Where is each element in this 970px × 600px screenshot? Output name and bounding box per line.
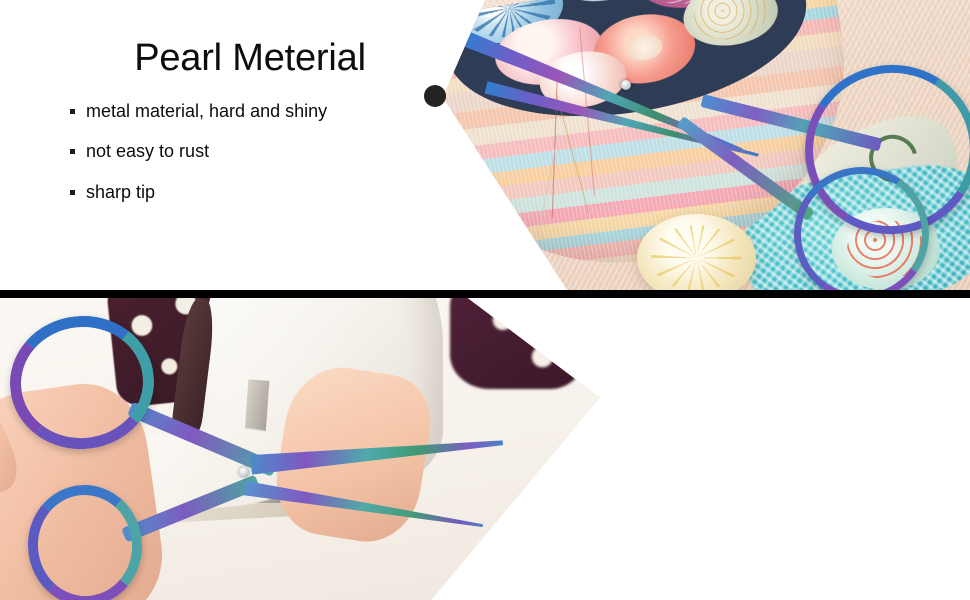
bullet-item: not easy to rust bbox=[60, 140, 430, 163]
bullet-list-pearl-material: metal material, hard and shiny not easy … bbox=[60, 100, 430, 204]
photo-pearl-material-content bbox=[432, 0, 970, 290]
scissor-pivot-screw bbox=[621, 80, 631, 90]
text-block-pearl-material: Pearl Meterial metal material, hard and … bbox=[60, 38, 430, 221]
bullet-label: not easy to rust bbox=[86, 140, 209, 163]
photo-pearl-material bbox=[432, 0, 970, 290]
bullet-item: sharp tip bbox=[60, 181, 430, 204]
headline-pearl-material: Pearl Meterial bbox=[60, 38, 430, 80]
section-pearl-material: Pearl Meterial metal material, hard and … bbox=[0, 0, 970, 290]
bullet-item: metal material, hard and shiny bbox=[60, 100, 430, 123]
square-bullet-icon bbox=[70, 149, 75, 154]
section-divider bbox=[0, 290, 970, 298]
bullet-label: metal material, hard and shiny bbox=[86, 100, 327, 123]
photo-delicate-handle bbox=[0, 298, 600, 600]
product-feature-banner: Pearl Meterial metal material, hard and … bbox=[0, 0, 970, 600]
rainbow-scissors-top bbox=[432, 0, 970, 290]
scissor-shank-lower bbox=[677, 116, 815, 221]
dot-marker-icon-top bbox=[424, 85, 446, 107]
square-bullet-icon bbox=[70, 190, 75, 195]
square-bullet-icon bbox=[70, 109, 75, 114]
floral-fabric-right bbox=[450, 298, 582, 389]
scissor-pivot-screw bbox=[239, 467, 249, 477]
section-delicate-handle: Delicate Handle smooth and comfortable e… bbox=[0, 298, 970, 600]
bullet-label: sharp tip bbox=[86, 181, 155, 204]
